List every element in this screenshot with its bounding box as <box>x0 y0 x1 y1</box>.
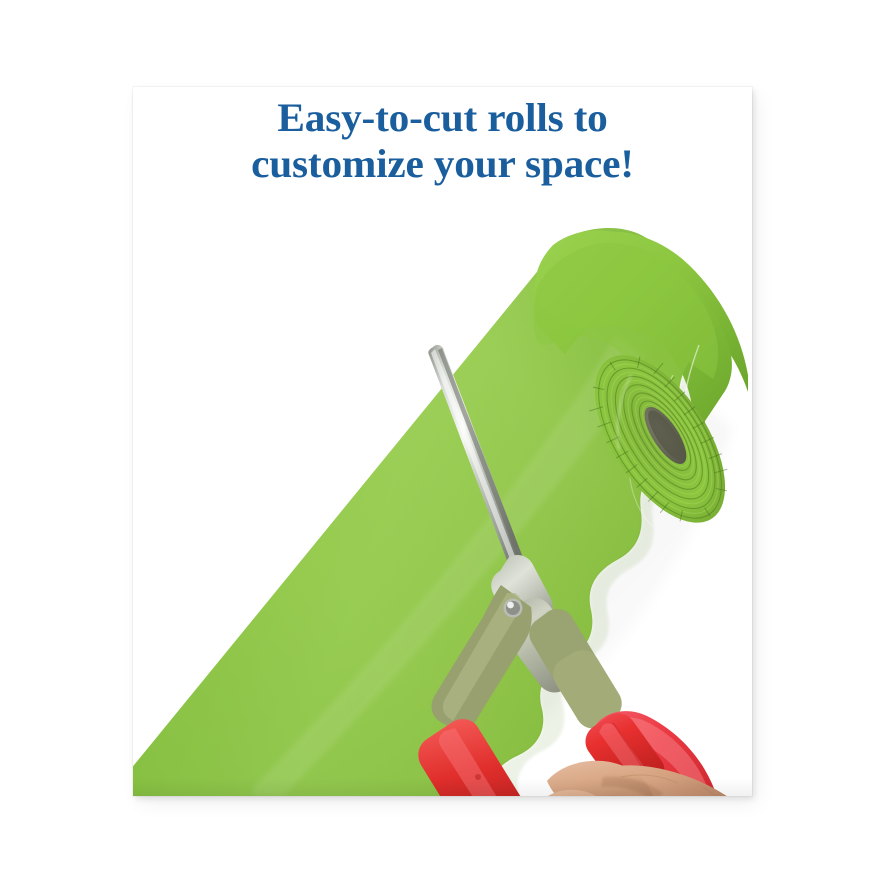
hand <box>531 761 752 796</box>
product-photo <box>133 87 752 796</box>
product-card: Easy-to-cut rolls to customize your spac… <box>133 87 752 796</box>
headline-line-1: Easy-to-cut rolls to <box>133 97 752 140</box>
photo-svg <box>133 87 752 796</box>
headline-line-2: customize your space! <box>133 143 752 186</box>
scissors-handle-left-dimple <box>475 774 481 780</box>
screenshot-root: Easy-to-cut rolls to customize your spac… <box>0 0 884 884</box>
scissors-rivet-highlight <box>507 602 514 609</box>
headline: Easy-to-cut rolls to customize your spac… <box>133 97 752 186</box>
